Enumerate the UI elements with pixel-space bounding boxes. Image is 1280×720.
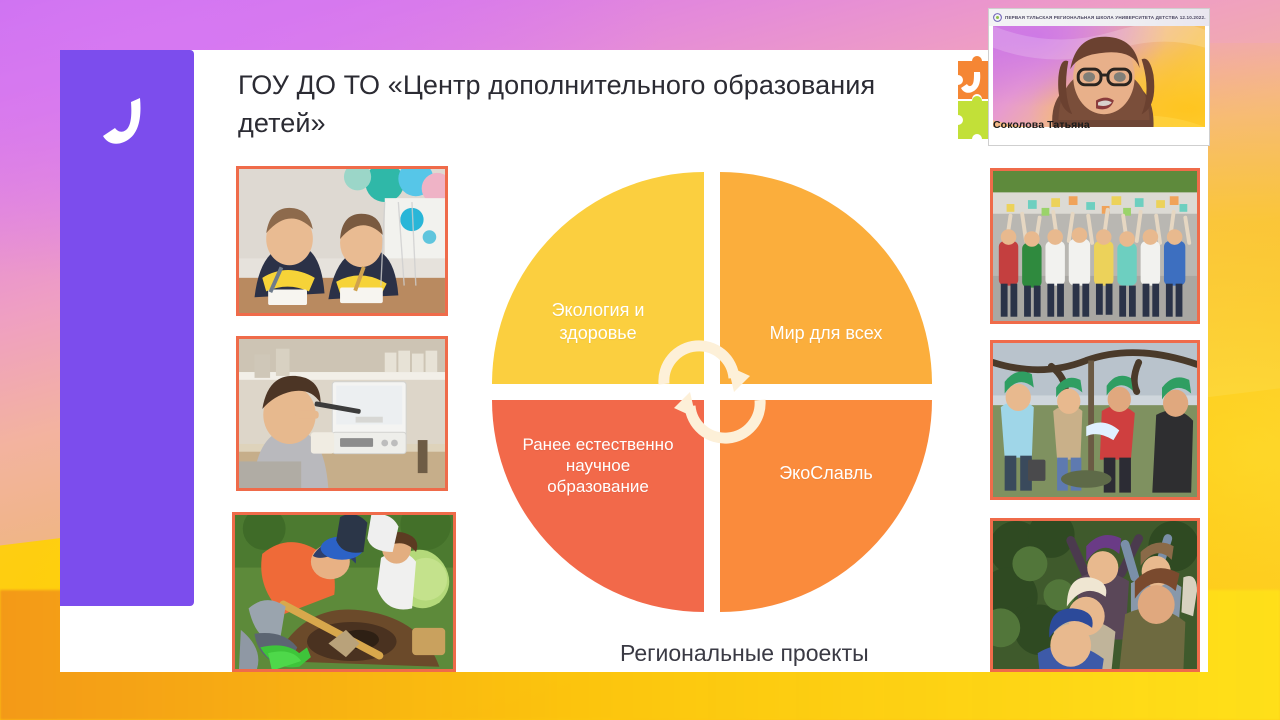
photo-lab-boy <box>236 336 448 491</box>
webcam-overlay[interactable]: ПЕРВАЯ ТУЛЬСКАЯ РЕГИОНАЛЬНАЯ ШКОЛА УНИВЕ… <box>988 8 1210 146</box>
photo-children-crowd <box>990 168 1200 324</box>
webcam-video-feed[interactable] <box>993 26 1205 127</box>
quadrant-bottom-right-label: ЭкоСлавль <box>720 462 932 484</box>
slide-sidebar <box>60 50 194 606</box>
brand-swoosh-logo <box>88 86 166 164</box>
quadrant-bottom-right[interactable]: ЭкоСлавль <box>720 400 932 612</box>
quadrant-bottom-left-label: Ранее естественно научное образование <box>492 434 704 497</box>
quadrant-bottom-left[interactable]: Ранее естественно научное образование <box>492 400 704 612</box>
photo-kids-outdoor-cheer <box>990 518 1200 672</box>
speaker-portrait <box>993 26 1205 127</box>
page-title: ГОУ ДО ТО «Центр дополнительного образов… <box>238 66 878 143</box>
photo-green-caps-planting <box>990 340 1200 500</box>
webcam-banner-text: ПЕРВАЯ ТУЛЬСКАЯ РЕГИОНАЛЬНАЯ ШКОЛА УНИВЕ… <box>1005 15 1206 20</box>
quadrant-top-left[interactable]: Экология и здоровье <box>492 172 704 384</box>
photo-tree-planting-kids <box>232 512 456 672</box>
quadrant-top-right[interactable]: Мир для всех <box>720 172 932 384</box>
quadrant-top-right-label: Мир для всех <box>720 322 932 344</box>
diagram-caption: Региональные проекты <box>620 640 1040 667</box>
quadrant-diagram: Экология и здоровье Мир для всех Ранее е… <box>492 172 932 612</box>
speaker-name-label: Соколова Татьяна <box>993 119 1090 131</box>
photo-classroom-girls <box>236 166 448 316</box>
webcam-banner: ПЕРВАЯ ТУЛЬСКАЯ РЕГИОНАЛЬНАЯ ШКОЛА УНИВЕ… <box>989 9 1209 26</box>
quadrant-top-left-label: Экология и здоровье <box>492 299 704 344</box>
organization-logo-icon <box>993 13 1002 22</box>
